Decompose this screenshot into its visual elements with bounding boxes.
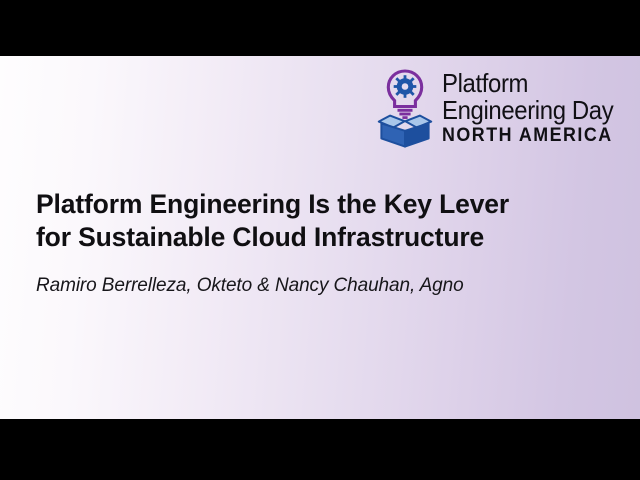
letterbox-bar-top <box>0 0 640 56</box>
talk-speakers: Ramiro Berrelleza, Okteto & Nancy Chauha… <box>36 274 612 298</box>
conference-logo: Platform Engineering Day NORTH AMERICA <box>377 65 628 149</box>
logo-line-north-america: NORTH AMERICA <box>442 126 617 145</box>
logo-line-engineering-day: Engineering Day <box>442 97 613 123</box>
logo-line-platform: Platform <box>442 70 613 96</box>
lightbulb-gear-in-open-box-icon <box>377 65 433 149</box>
talk-title: Platform Engineering Is the Key Lever fo… <box>36 188 612 254</box>
talk-title-line-1: Platform Engineering Is the Key Lever <box>36 188 612 221</box>
conference-talk-slide: Platform Engineering Day NORTH AMERICA P… <box>0 0 640 480</box>
letterbox-bar-bottom <box>0 419 640 480</box>
talk-title-line-2: for Sustainable Cloud Infrastructure <box>36 221 612 254</box>
slide-content-area: Platform Engineering Day NORTH AMERICA P… <box>0 56 640 419</box>
conference-logo-text: Platform Engineering Day NORTH AMERICA <box>442 70 628 145</box>
title-block: Platform Engineering Is the Key Lever fo… <box>36 188 612 298</box>
